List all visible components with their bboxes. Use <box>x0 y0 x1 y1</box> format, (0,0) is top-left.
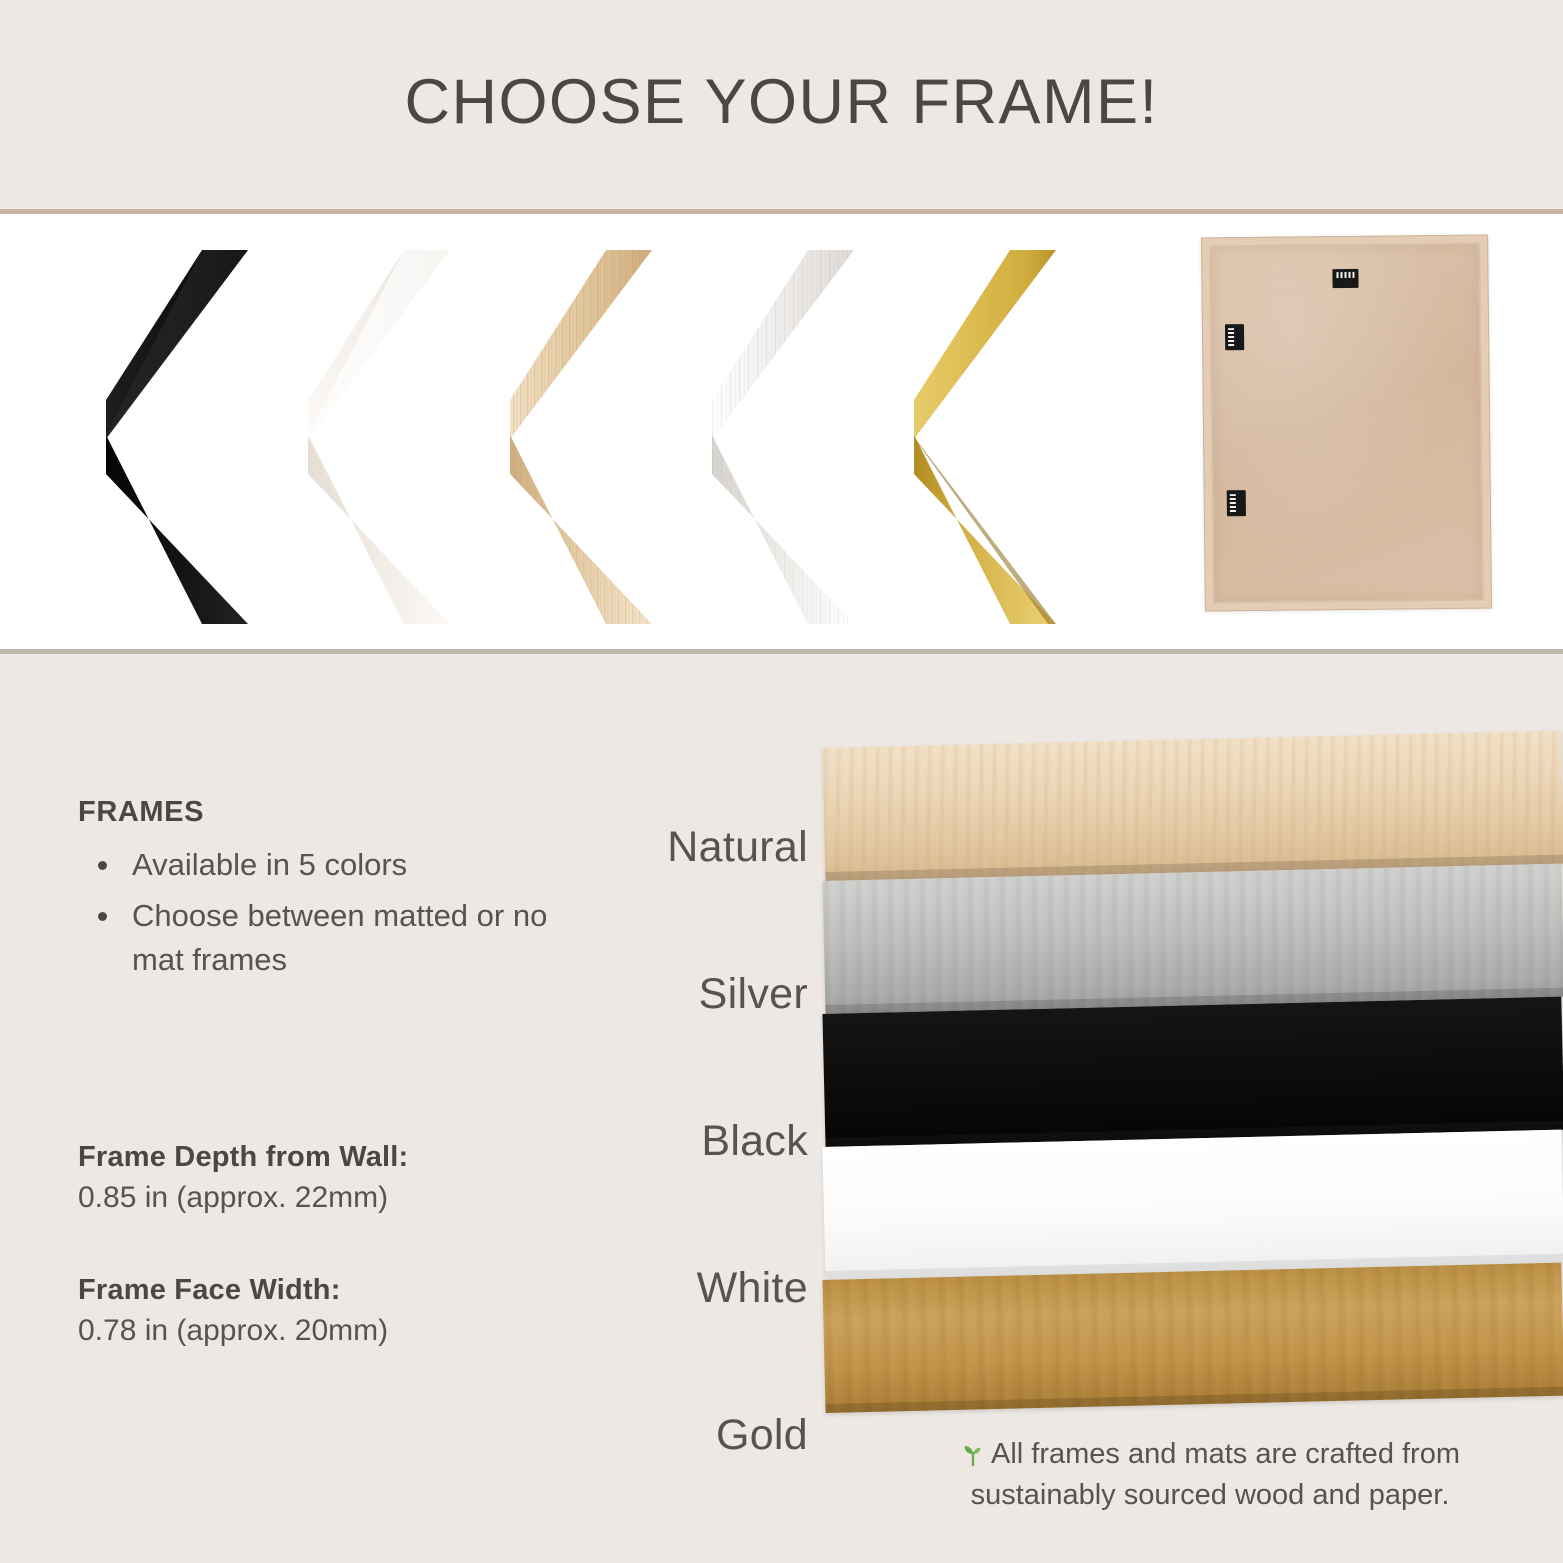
spec-value: 0.78 in (approx. 20mm) <box>78 1314 598 1348</box>
frame-corner-samples-band <box>0 214 1563 651</box>
color-label-white: White <box>580 1215 808 1362</box>
list-item: Choose between matted or no mat frames <box>78 894 578 981</box>
sawtooth-hanger-icon <box>1227 490 1246 516</box>
white-chevron-sample[interactable] <box>290 242 490 632</box>
frame-details-section: FRAMES Available in 5 colors Choose betw… <box>0 654 1563 1563</box>
molding-edge <box>825 1387 1563 1413</box>
spec-label: Frame Face Width: <box>78 1274 598 1307</box>
frames-heading: FRAMES <box>78 796 578 829</box>
color-label-natural: Natural <box>580 774 808 921</box>
gold-chevron-sample[interactable] <box>896 242 1096 632</box>
spec-value: 0.85 in (approx. 22mm) <box>78 1181 598 1215</box>
page-title: CHOOSE YOUR FRAME! <box>405 66 1159 138</box>
molding-silver[interactable] <box>822 864 1563 1014</box>
frames-info-block: FRAMES Available in 5 colors Choose betw… <box>78 796 578 989</box>
frame-back-view[interactable] <box>1201 235 1492 612</box>
sprout-icon <box>960 1441 986 1467</box>
color-label-gold: Gold <box>580 1362 808 1509</box>
white-chevron-icon <box>290 242 490 632</box>
sawtooth-hanger-icon <box>1225 324 1244 350</box>
sustainability-note: All frames and mats are crafted from sus… <box>900 1434 1520 1516</box>
color-label-column: Natural Silver Black White Gold <box>580 774 808 1509</box>
molding-gold[interactable] <box>822 1263 1563 1413</box>
molding-black[interactable] <box>822 997 1563 1147</box>
color-label-silver: Silver <box>580 921 808 1068</box>
silver-chevron-sample[interactable] <box>694 242 894 632</box>
spec-frame-depth: Frame Depth from Wall: 0.85 in (approx. … <box>78 1141 598 1215</box>
page-header: CHOOSE YOUR FRAME! <box>0 0 1563 209</box>
color-label-black: Black <box>580 1068 808 1215</box>
molding-white[interactable] <box>822 1130 1563 1280</box>
natural-wood-chevron-icon <box>492 242 692 632</box>
silver-chevron-icon <box>694 242 894 632</box>
molding-stack <box>824 748 1563 1398</box>
molding-natural[interactable] <box>822 731 1563 881</box>
black-chevron-icon <box>88 242 288 632</box>
natural-chevron-sample[interactable] <box>492 242 692 632</box>
list-item: Available in 5 colors <box>78 843 578 886</box>
gold-chevron-icon <box>896 242 1096 632</box>
sustainability-line-2: sustainably sourced wood and paper. <box>971 1479 1450 1511</box>
frames-feature-list: Available in 5 colors Choose between mat… <box>78 843 578 981</box>
spec-frame-face-width: Frame Face Width: 0.78 in (approx. 20mm) <box>78 1274 598 1348</box>
spec-label: Frame Depth from Wall: <box>78 1141 598 1174</box>
black-chevron-sample[interactable] <box>88 242 288 632</box>
sawtooth-hanger-icon <box>1332 269 1358 288</box>
frame-back-lip <box>1202 236 1491 611</box>
sustainability-line-1: All frames and mats are crafted from <box>960 1438 1460 1470</box>
